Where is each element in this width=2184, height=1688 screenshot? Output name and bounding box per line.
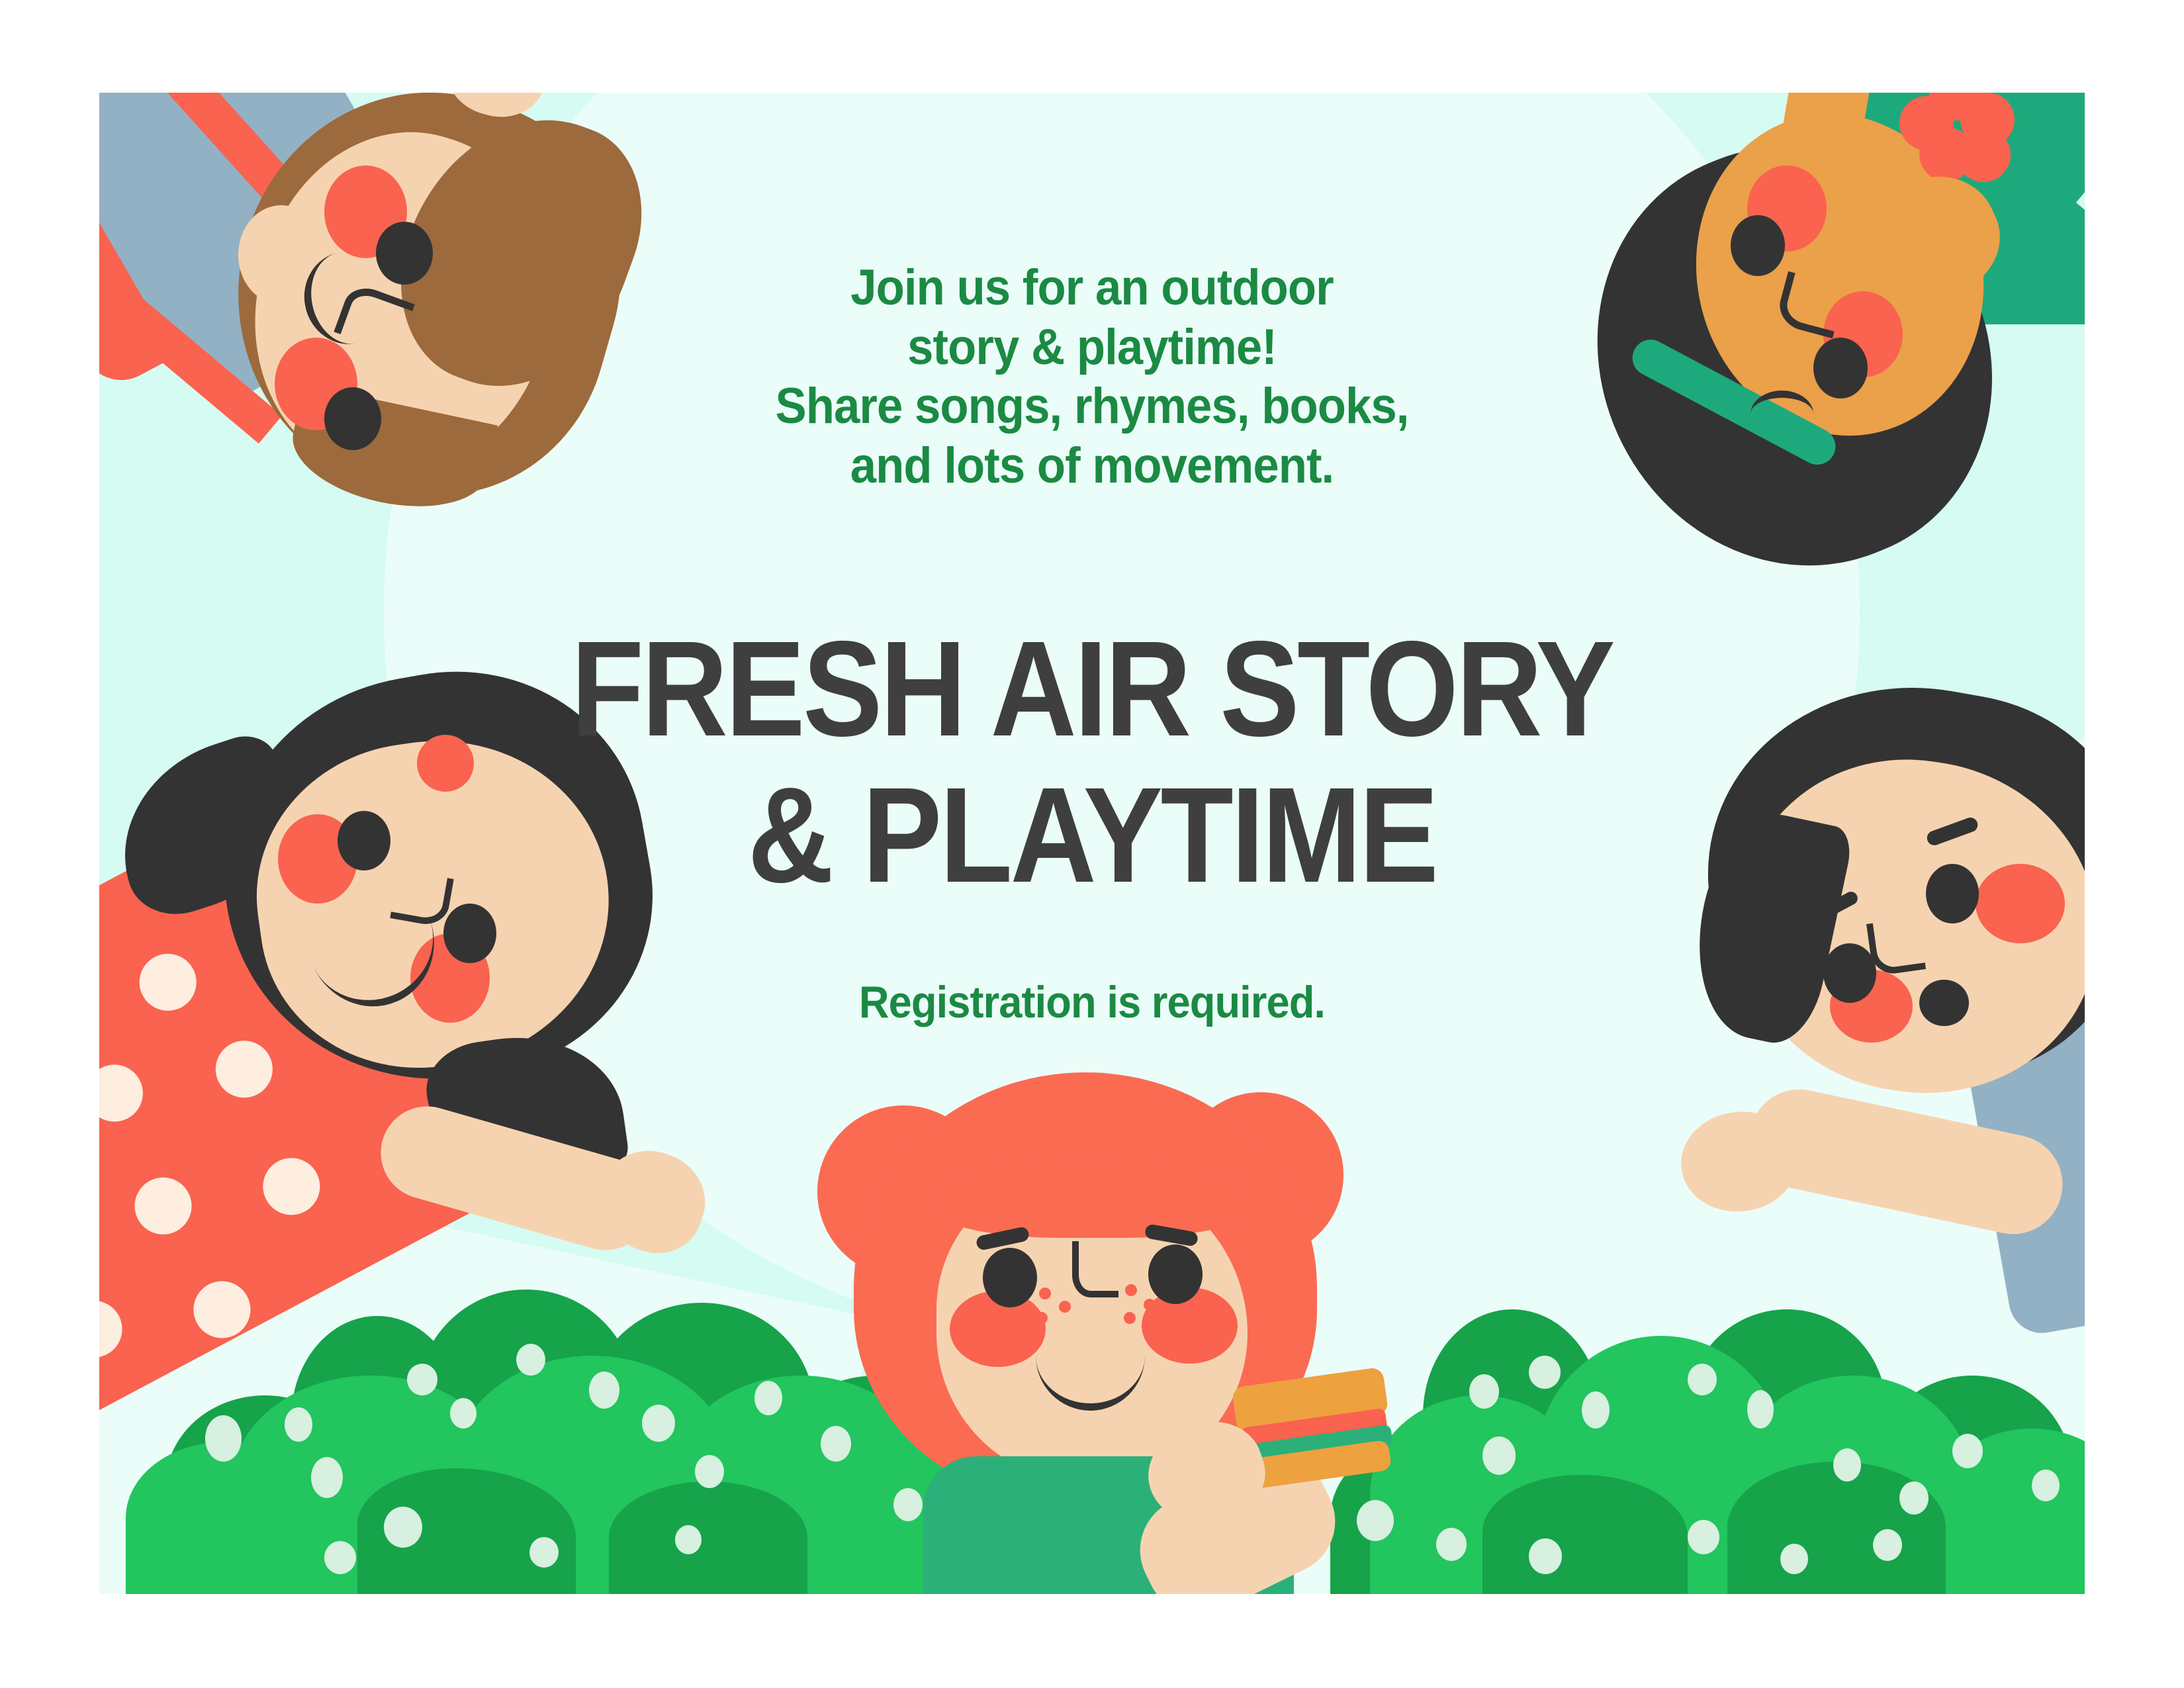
subtitle-line-1: Join us for an outdoor bbox=[600, 258, 1584, 318]
page-title: FRESH AIR STORY & PLAYTIME bbox=[545, 616, 1639, 909]
subtitle-block: Join us for an outdoor story & playtime!… bbox=[600, 258, 1584, 496]
poster-canvas: Join us for an outdoor story & playtime!… bbox=[99, 93, 2085, 1594]
subtitle-line-2: story & playtime! bbox=[600, 318, 1584, 377]
subtitle-line-3: Share songs, rhymes, books, bbox=[600, 377, 1584, 436]
subtitle-line-4: and lots of movement. bbox=[600, 436, 1584, 496]
text-layer: Join us for an outdoor story & playtime!… bbox=[99, 93, 2085, 1594]
title-line-1: FRESH AIR STORY bbox=[571, 613, 1613, 765]
title-line-2: & PLAYTIME bbox=[545, 762, 1639, 908]
registration-note: Registration is required. bbox=[600, 976, 1584, 1028]
